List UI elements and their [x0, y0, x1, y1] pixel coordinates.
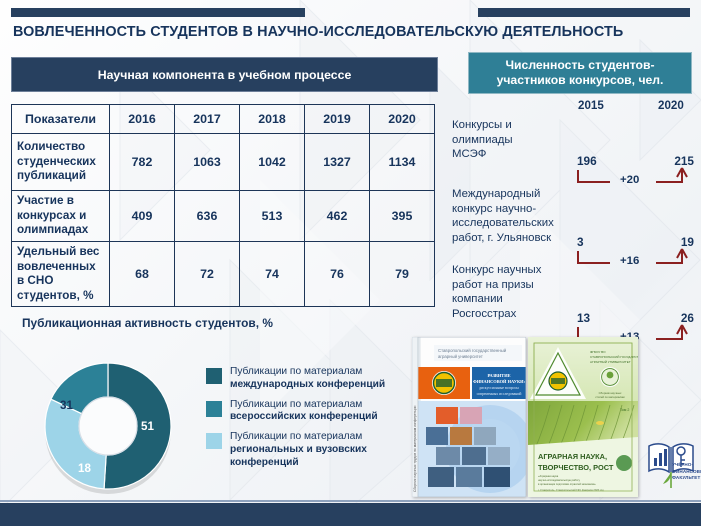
svg-text:АГРАРНАЯ НАУКА,: АГРАРНАЯ НАУКА, [538, 452, 607, 461]
svg-text:аграрный университет: аграрный университет [438, 354, 483, 359]
svg-text:статей по материалам: статей по материалам [595, 395, 624, 399]
svg-text:ТВОРЧЕСТВО, РОСТ: ТВОРЧЕСТВО, РОСТ [538, 463, 614, 472]
growth-item-ulyanovsk: Международныйконкурс научно-исследовател… [452, 187, 700, 269]
donut-chart-legend: Публикации по материалам международных к… [206, 366, 411, 476]
cover-image-finance: Сборник научных трудов по материалам кон… [412, 337, 526, 497]
donut-chart-title: Публикационная активность студентов, % [22, 316, 273, 330]
legend-label-line2: всероссийских конференций [230, 411, 378, 422]
growth-value-end: 19 [681, 235, 694, 249]
growth-value-start: 196 [577, 154, 597, 168]
row-value: 462 [305, 191, 370, 242]
legend-label-line3: конференций [230, 457, 299, 468]
row-value: 1063 [175, 134, 240, 191]
table-col-indicator: Показатели [12, 105, 110, 134]
metrics-table: Показатели 2016 2017 2018 2019 2020 Коли… [11, 104, 435, 307]
right-panel-header: Численность студентов- участников конкур… [468, 52, 692, 94]
table-col-2017: 2017 [175, 105, 240, 134]
row-value: 636 [175, 191, 240, 242]
svg-text:Сборник научных трудов по мате: Сборник научных трудов по материалам кон… [413, 405, 417, 492]
decor-bar-left [11, 8, 305, 17]
row-value: 782 [110, 134, 175, 191]
footer-divider [0, 500, 701, 502]
footer-bar [0, 503, 701, 526]
row-label: Количествостуденческихпубликаций [12, 134, 110, 191]
legend-label-line1: Публикации по материалам [230, 399, 362, 410]
table-col-2016: 2016 [110, 105, 175, 134]
row-value: 1134 [370, 134, 435, 191]
logo-line3: ФАКУЛЬТЕТ [672, 475, 701, 482]
growth-item-msef: Конкурсы иолимпиадыМСЭФ 196 215 +20 [452, 118, 700, 190]
svg-text:Ставропольский государственный: Ставропольский государственный [438, 348, 507, 353]
legend-item: Публикации по материалам региональных и … [206, 431, 411, 469]
legend-item: Публикации по материалам международных к… [206, 366, 411, 392]
row-value: 1042 [240, 134, 305, 191]
row-value: 409 [110, 191, 175, 242]
page-title: ВОВЛЕЧЕННОСТЬ СТУДЕНТОВ В НАУЧНО-ИССЛЕДО… [13, 24, 693, 40]
svg-text:современных исследований: современных исследований [477, 392, 522, 396]
growth-item-label: Конкурсы иолимпиадыМСЭФ [452, 118, 570, 162]
growth-year-start: 2015 [578, 99, 604, 112]
svg-text:научно-исследовательскую работ: научно-исследовательскую работу [538, 478, 581, 482]
row-value: 74 [240, 241, 305, 307]
left-panel-header-label: Научная компонента в учебном процессе [98, 68, 352, 82]
publication-covers: Сборник научных трудов по материалам кон… [412, 337, 640, 497]
svg-text:СТАВРОПОЛЬСКИЙ ГОСУДАРСТВЕННЫЙ: СТАВРОПОЛЬСКИЙ ГОСУДАРСТВЕННЫЙ [590, 355, 638, 359]
row-value: 68 [110, 241, 175, 307]
faculty-logo: УЧЁТНО- ФИНАНСОВЫЙ ФАКУЛЬТЕТ [645, 432, 697, 494]
growth-item-label: Международныйконкурс научно-исследовател… [452, 187, 570, 245]
right-panel-header-line2: участников конкурсов, чел. [497, 73, 664, 88]
growth-years-row: 2015 2020 [468, 99, 690, 115]
svg-text:дискуссионные вопросы: дискуссионные вопросы [479, 386, 519, 390]
left-panel-header: Научная компонента в учебном процессе [11, 57, 438, 92]
growth-item-rosgosstrakh: Конкурс научныхработ на призыкомпанииРос… [452, 263, 700, 345]
growth-value-start: 13 [577, 311, 590, 325]
svg-text:в организации подготовки отрас: в организации подготовки отраслей эконом… [538, 482, 596, 486]
logo-text: УЧЁТНО- ФИНАНСОВЫЙ ФАКУЛЬТЕТ [672, 462, 701, 482]
right-panel-header-line1: Численность студентов- [505, 58, 654, 73]
legend-label-line1: Публикации по материалам [230, 366, 362, 377]
legend-swatch-icon [206, 401, 222, 417]
cover-image-agrarian: ФГБОУ ВО СТАВРОПОЛЬСКИЙ ГОСУДАРСТВЕННЫЙ … [528, 337, 638, 497]
row-value: 76 [305, 241, 370, 307]
donut-chart-svg [40, 358, 176, 494]
row-label: Удельный весвовлеченныхв СНО студентов, … [12, 241, 110, 307]
growth-delta: +20 [620, 174, 639, 186]
legend-swatch-icon [206, 433, 222, 449]
growth-value-start: 3 [577, 235, 584, 249]
row-value: 395 [370, 191, 435, 242]
row-value: 513 [240, 191, 305, 242]
donut-label-0: 51 [141, 420, 154, 433]
table-col-2018: 2018 [240, 105, 305, 134]
svg-text:ФИНАНСОВОЙ НАУКИ:: ФИНАНСОВОЙ НАУКИ: [473, 379, 526, 384]
legend-label-line1: Публикации по материалам [230, 431, 362, 442]
row-label: Участие в конкурсах иолимпиадах [12, 191, 110, 242]
legend-item: Публикации по материалам всероссийских к… [206, 399, 411, 425]
growth-item-label: Конкурс научныхработ на призыкомпанииРос… [452, 263, 570, 321]
logo-line1: УЧЁТНО- [672, 462, 701, 469]
svg-text:РАЗВИТИЕ: РАЗВИТИЕ [487, 373, 510, 378]
svg-text:Том 2: Том 2 [620, 408, 629, 412]
donut-label-2: 18 [78, 462, 91, 475]
legend-label-line2: международных конференций [230, 379, 385, 390]
growth-value-end: 215 [674, 154, 694, 168]
row-value: 79 [370, 241, 435, 307]
donut-label-1: 31 [60, 399, 73, 412]
donut-chart: 51 31 18 [40, 358, 176, 494]
svg-text:АГРАРНЫЙ УНИВЕРСИТЕТ: АГРАРНЫЙ УНИВЕРСИТЕТ [590, 360, 631, 364]
svg-text:«Аграрная наука: «Аграрная наука [538, 474, 559, 478]
table-header-row: Показатели 2016 2017 2018 2019 2020 [12, 105, 435, 134]
table-row: Участие в конкурсах иолимпиадах 409 636 … [12, 191, 435, 242]
table-col-2019: 2019 [305, 105, 370, 134]
row-value: 1327 [305, 134, 370, 191]
growth-year-end: 2020 [658, 99, 684, 112]
decor-bar-right [478, 8, 690, 17]
slide-root: ВОВЛЕЧЕННОСТЬ СТУДЕНТОВ В НАУЧНО-ИССЛЕДО… [0, 0, 701, 526]
row-value: 72 [175, 241, 240, 307]
legend-label-line2: региональных и вузовских [230, 444, 367, 455]
table-row: Удельный весвовлеченныхв СНО студентов, … [12, 241, 435, 307]
growth-value-end: 26 [681, 311, 694, 325]
table-col-2020: 2020 [370, 105, 435, 134]
legend-swatch-icon [206, 368, 222, 384]
logo-line2: ФИНАНСОВЫЙ [672, 469, 701, 476]
svg-text:ФГБОУ ВО: ФГБОУ ВО [590, 350, 606, 354]
table-row: Количествостуденческихпубликаций 782 106… [12, 134, 435, 191]
